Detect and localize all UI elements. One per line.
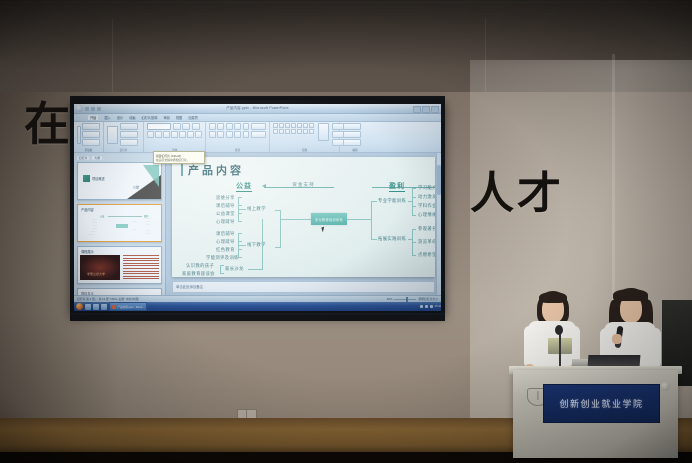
explorer-icon[interactable] [85,304,91,310]
window-controls[interactable] [413,106,439,113]
copy-button[interactable] [82,131,100,138]
tab-slideshow[interactable]: 幻灯片放映 [142,115,158,120]
leaf-online-3: 公益课堂 [216,211,235,217]
thumb2-left-header: 公益 [100,214,104,218]
leaf-expand-2: 游览革命圣地 [418,239,435,245]
ribbon-group-slides[interactable]: 幻灯片 [104,122,144,152]
node-salon: 家长沙龙 [225,266,244,272]
mouse-cursor [321,227,325,233]
projection-screen: 产品内容.pptx - Microsoft PowerPoint 开始 插入 设… [74,104,441,311]
zoom-level: 66% [387,297,393,301]
slide-right-header: 盈利 [389,181,405,192]
leaf-expand-1: 参观著名学府 [418,226,435,232]
slide-editor-pane[interactable]: 产品内容 公益 资金支持 盈利 思维分享 课后辅导 公益课堂 心理疏导 [166,153,441,311]
shape-pentagon-icon[interactable] [273,129,278,134]
quick-styles-button[interactable] [318,123,329,141]
tab-design[interactable]: 设计 [117,115,123,120]
slide-title-accent-bar [181,163,183,176]
thumb2-center-node [116,224,128,228]
shape-arrow-icon[interactable] [297,123,302,128]
thumb3-photo-caption: 学而立德大学 [87,272,105,276]
start-button-icon[interactable] [76,303,83,310]
powerpoint-icon [112,305,116,309]
tab-view[interactable]: 视图 [176,115,182,120]
slide-thumbnail-1[interactable]: 项目概述 公益 [77,162,162,200]
ribbon-group-paragraph[interactable]: 段落 [206,122,270,152]
tab-outline[interactable]: 大纲 [92,156,102,160]
align-right-button[interactable] [226,131,233,138]
tab-slides[interactable]: 幻灯片 [77,156,89,160]
lecture-hall-scene: 在创 人才 产品内容.pptx - Microsoft PowerPoint [0,0,692,463]
node-professional: 专业学能训练 [378,198,406,204]
media-player-icon[interactable] [93,304,99,310]
shape-flow-icon[interactable] [297,129,302,134]
shape-line-icon[interactable] [303,123,308,128]
shape-connector-icon[interactable] [303,129,308,134]
tab-home[interactable]: 开始 [88,115,98,120]
window-title: 产品内容.pptx - Microsoft PowerPoint [226,105,288,110]
status-bar: 幻灯片 第 2 张， 共 12 张 "Office 主题" 中文(中国) 66%… [74,295,441,302]
ppt-workspace: 幻灯片 大纲 项目概述 公益 产品内容 公益 盈利 [74,153,441,311]
underline-button[interactable] [163,131,170,138]
vertical-scrollbar[interactable] [436,153,441,311]
shape-more-icon[interactable] [309,123,314,128]
podium-knob[interactable] [661,382,670,391]
columns-button[interactable] [243,131,250,138]
current-slide[interactable]: 产品内容 公益 资金支持 盈利 思维分享 课后辅导 公益课堂 心理疏导 [172,157,435,277]
node-online: 线上教学 [247,206,266,212]
quick-access-toolbar[interactable] [85,107,101,111]
slide-axis-label: 资金支持 [292,182,314,188]
undo-icon[interactable] [91,107,95,111]
ribbon-tooltip: 新建幻灯片 (Ctrl+M) 在演示文稿中添加幻灯片。 [153,151,205,164]
tooltip-body: 在演示文稿中添加幻灯片。 [156,158,202,162]
leaf-offline-1: 课后辅导 [216,231,235,237]
podium-sign-text: 创新创业就业学院 [559,397,643,410]
tab-review[interactable]: 审阅 [163,115,169,120]
font-size-combo[interactable] [173,123,181,130]
leaf-pro-4: 心理情绪疏导 [418,212,435,218]
center-node-label: 多元教育培训体系 [311,217,347,222]
leaf-online-2: 课后辅导 [216,203,235,209]
minimize-button[interactable] [413,106,421,113]
numbering-button[interactable] [217,123,224,130]
save-icon[interactable] [85,107,89,111]
leaf-pro-1: 学习能力训练 [418,185,435,191]
node-expand: 拓展实践训练 [378,236,406,242]
slide-thumbnail-2[interactable]: 产品内容 公益 盈利 ······· ······· ······· ·····… [77,204,162,242]
increase-indent-button[interactable] [234,123,241,130]
select-button[interactable] [343,139,361,146]
leaf-offline-2: 心理疏导 [216,239,235,245]
close-button[interactable] [431,106,439,113]
redo-icon[interactable] [97,107,101,111]
shape-rectangle-icon[interactable] [273,123,278,128]
thumb1-arrow-label: 公益 [133,185,139,189]
wall-slogan-right: 人才 [470,172,564,216]
line-spacing-button[interactable] [243,123,250,130]
shadow-button[interactable] [171,131,178,138]
group-label-drawing: 绘图 [270,148,339,152]
bullets-button[interactable] [209,123,216,130]
text-direction-button[interactable] [251,123,266,130]
font-color-button[interactable] [195,131,202,138]
shape-banner-icon[interactable] [291,129,296,134]
font-family-combo[interactable] [147,123,171,130]
scrollbar-thumb[interactable] [437,165,441,195]
ribbon-tab-strip[interactable]: 开始 插入 设计 动画 幻灯片放映 审阅 视图 加载项 [74,114,441,122]
replace-button[interactable] [343,131,361,138]
leaf-pro-2: 动力激发训练 [418,194,435,200]
cut-button[interactable] [82,123,100,130]
italic-button[interactable] [155,131,162,138]
ceiling-line [0,2,692,3]
convert-smartart-button[interactable] [251,131,266,138]
ime-icon[interactable] [430,305,434,309]
tab-addins[interactable]: 加载项 [188,115,198,120]
layout-button[interactable] [120,123,138,130]
slides-thumbnail-pane[interactable]: 幻灯片 大纲 项目概述 公益 产品内容 公益 盈利 [74,153,166,311]
shape-callout-icon[interactable] [285,129,290,134]
shape-star-icon[interactable] [279,129,284,134]
leaf-salon-2: 家庭教育座谈会 [182,271,215,277]
strikethrough-button[interactable] [179,131,186,138]
outline-tab-strip[interactable]: 幻灯片 大纲 [77,156,162,160]
thumb1-title: 项目概述 [92,176,105,181]
slide-thumbnail-3[interactable]: 课程展示 学而立德大学 [77,246,162,284]
paste-button[interactable] [77,126,81,144]
group-label-editing: 编辑 [340,148,370,152]
leaf-offline-3: 红色教育 [216,247,235,253]
notes-pane[interactable]: 单击此处添加备注 [172,281,435,293]
screen-bottom-bar [70,313,445,321]
fit-slide-button[interactable]: 调整幻灯片大小 [418,297,438,301]
reset-button[interactable] [120,131,138,138]
tab-insert[interactable]: 插入 [104,115,110,120]
group-label-paragraph: 段落 [206,148,269,152]
tab-animations[interactable]: 动画 [129,115,135,120]
podium-sign: 创新创业就业学院 [543,384,660,423]
status-text: 幻灯片 第 2 张， 共 12 张 "Office 主题" 中文(中国) [77,297,139,301]
shape-rounded-icon[interactable] [279,123,284,128]
leaf-offline-4: 学能测评及训练 [206,255,239,261]
ribbon-group-clipboard[interactable]: 剪贴板 [74,122,104,152]
office-orb-icon[interactable] [76,105,83,112]
align-left-button[interactable] [209,131,216,138]
group-label-slides: 幻灯片 [104,148,143,152]
network-icon[interactable] [420,305,424,309]
new-slide-button[interactable] [107,126,118,144]
leaf-pro-3: 学科作业辅导 [418,203,435,209]
thumb1-logo-icon [83,175,90,182]
leaf-expand-3: 点燃希望之火 [418,252,435,258]
shape-freeform-icon[interactable] [309,129,314,134]
slide-title: 产品内容 [188,162,244,178]
zoom-slider[interactable] [394,299,416,300]
shape-triangle-icon[interactable] [291,123,296,128]
decrease-indent-button[interactable] [226,123,233,130]
leaf-online-1: 思维分享 [216,195,235,201]
thumb3-photo: 学而立德大学 [80,255,120,280]
powerpoint-window: 产品内容.pptx - Microsoft PowerPoint 开始 插入 设… [74,104,441,311]
thumb2-title: 产品内容 [81,207,94,212]
ribbon-group-font[interactable]: 字体 [144,122,206,152]
ribbon-group-editing[interactable]: 编辑 [340,122,370,152]
maximize-button[interactable] [422,106,430,113]
status-right[interactable]: 66% 调整幻灯片大小 [387,297,438,301]
thumb3-title: 课程展示 [81,249,94,254]
format-painter-button[interactable] [82,139,100,146]
leaf-salon-1: 认识我的孩子 [186,263,214,269]
justify-button[interactable] [234,131,241,138]
taskbar-clock: 15:42 [435,305,442,308]
align-center-button[interactable] [217,131,224,138]
taskbar-task-label: 产品内容.pptx - Micro... [118,305,145,309]
ribbon[interactable]: 剪贴板 幻灯片 [74,122,441,153]
bold-button[interactable] [147,131,154,138]
wall-seam-left [112,18,113,98]
center-node-box: 多元教育培训体系 [311,213,347,225]
taskbar-powerpoint-task[interactable]: 产品内容.pptx - Micro... [109,302,147,311]
leaf-online-4: 心理疏导 [216,219,235,225]
slide-left-header: 公益 [236,181,252,192]
shapes-gallery[interactable] [273,123,314,134]
thumb3-text-lines [123,255,159,281]
shrink-font-button[interactable] [192,123,200,130]
character-spacing-button[interactable] [187,131,194,138]
find-button[interactable] [343,123,361,130]
windows-taskbar[interactable]: 产品内容.pptx - Micro... 15:42 [74,302,441,311]
volume-icon[interactable] [425,305,429,309]
delete-slide-button[interactable] [120,139,138,146]
window-title-bar: 产品内容.pptx - Microsoft PowerPoint [74,104,441,114]
grow-font-button[interactable] [182,123,190,130]
microphone-head-icon [555,325,563,335]
ribbon-group-drawing[interactable]: 绘图 [270,122,340,152]
shape-oval-icon[interactable] [285,123,290,128]
system-tray[interactable]: 15:42 [420,305,442,309]
group-label-clipboard: 剪贴板 [74,148,103,152]
microphone-stand [559,330,561,370]
thumb1-teal-triangle [143,165,159,187]
browser-icon[interactable] [101,304,107,310]
